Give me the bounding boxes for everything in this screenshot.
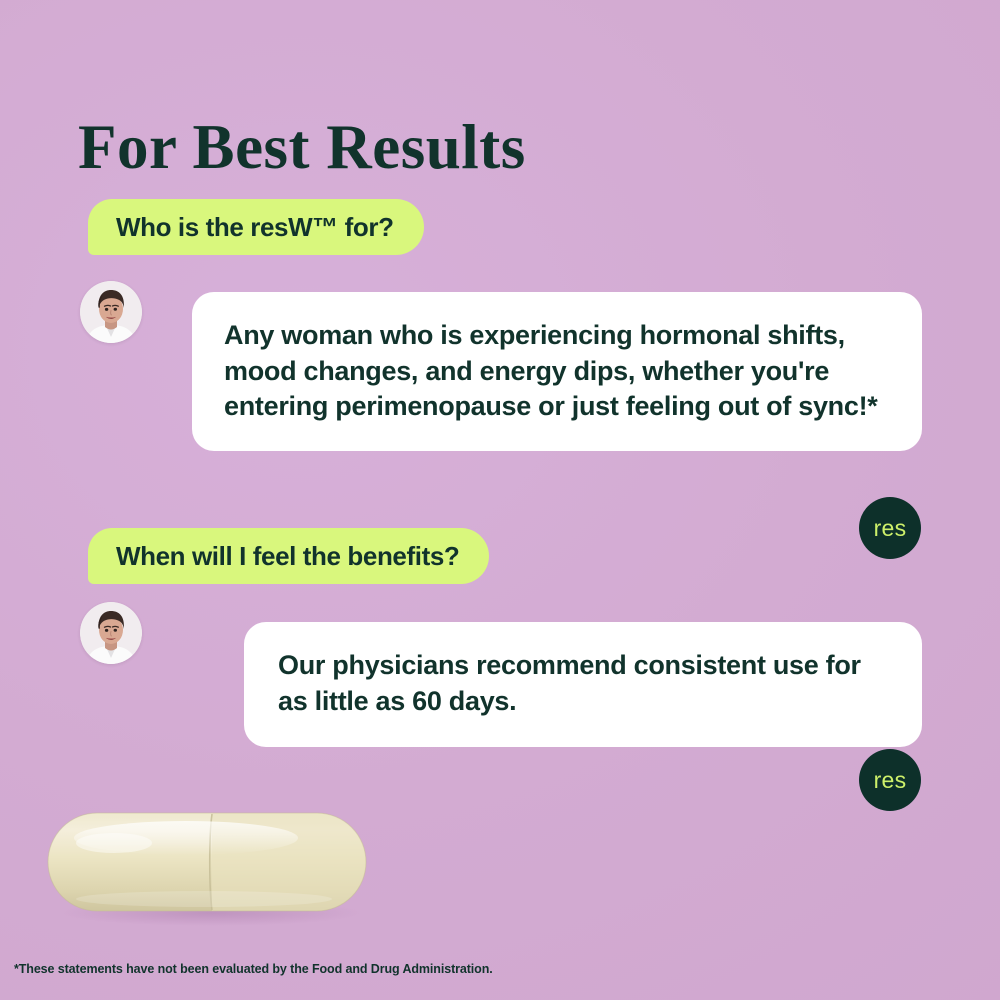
physician-avatar-2 [80,602,142,664]
answer-text-1: Any woman who is experiencing hormonal s… [224,320,878,421]
question-text-2: When will I feel the benefits? [116,541,459,572]
physician-avatar-1 [80,281,142,343]
res-brand-badge-2: res [859,749,921,811]
marketing-faq-card: For Best Results Who is the resW™ for? [0,0,1000,1000]
res-badge-label-1: res [874,515,907,542]
res-badge-label-2: res [874,767,907,794]
capsule-supplement-image [36,805,376,927]
answer-bubble-2: Our physicians recommend consistent use … [244,622,922,747]
answer-bubble-1: Any woman who is experiencing hormonal s… [192,292,922,451]
question-bubble-1[interactable]: Who is the resW™ for? [88,199,424,255]
fda-disclaimer: *These statements have not been evaluate… [14,962,493,976]
res-brand-badge-1: res [859,497,921,559]
page-title: For Best Results [78,114,526,180]
question-text-1: Who is the resW™ for? [116,212,394,243]
question-bubble-2[interactable]: When will I feel the benefits? [88,528,489,584]
answer-text-2: Our physicians recommend consistent use … [278,650,861,716]
